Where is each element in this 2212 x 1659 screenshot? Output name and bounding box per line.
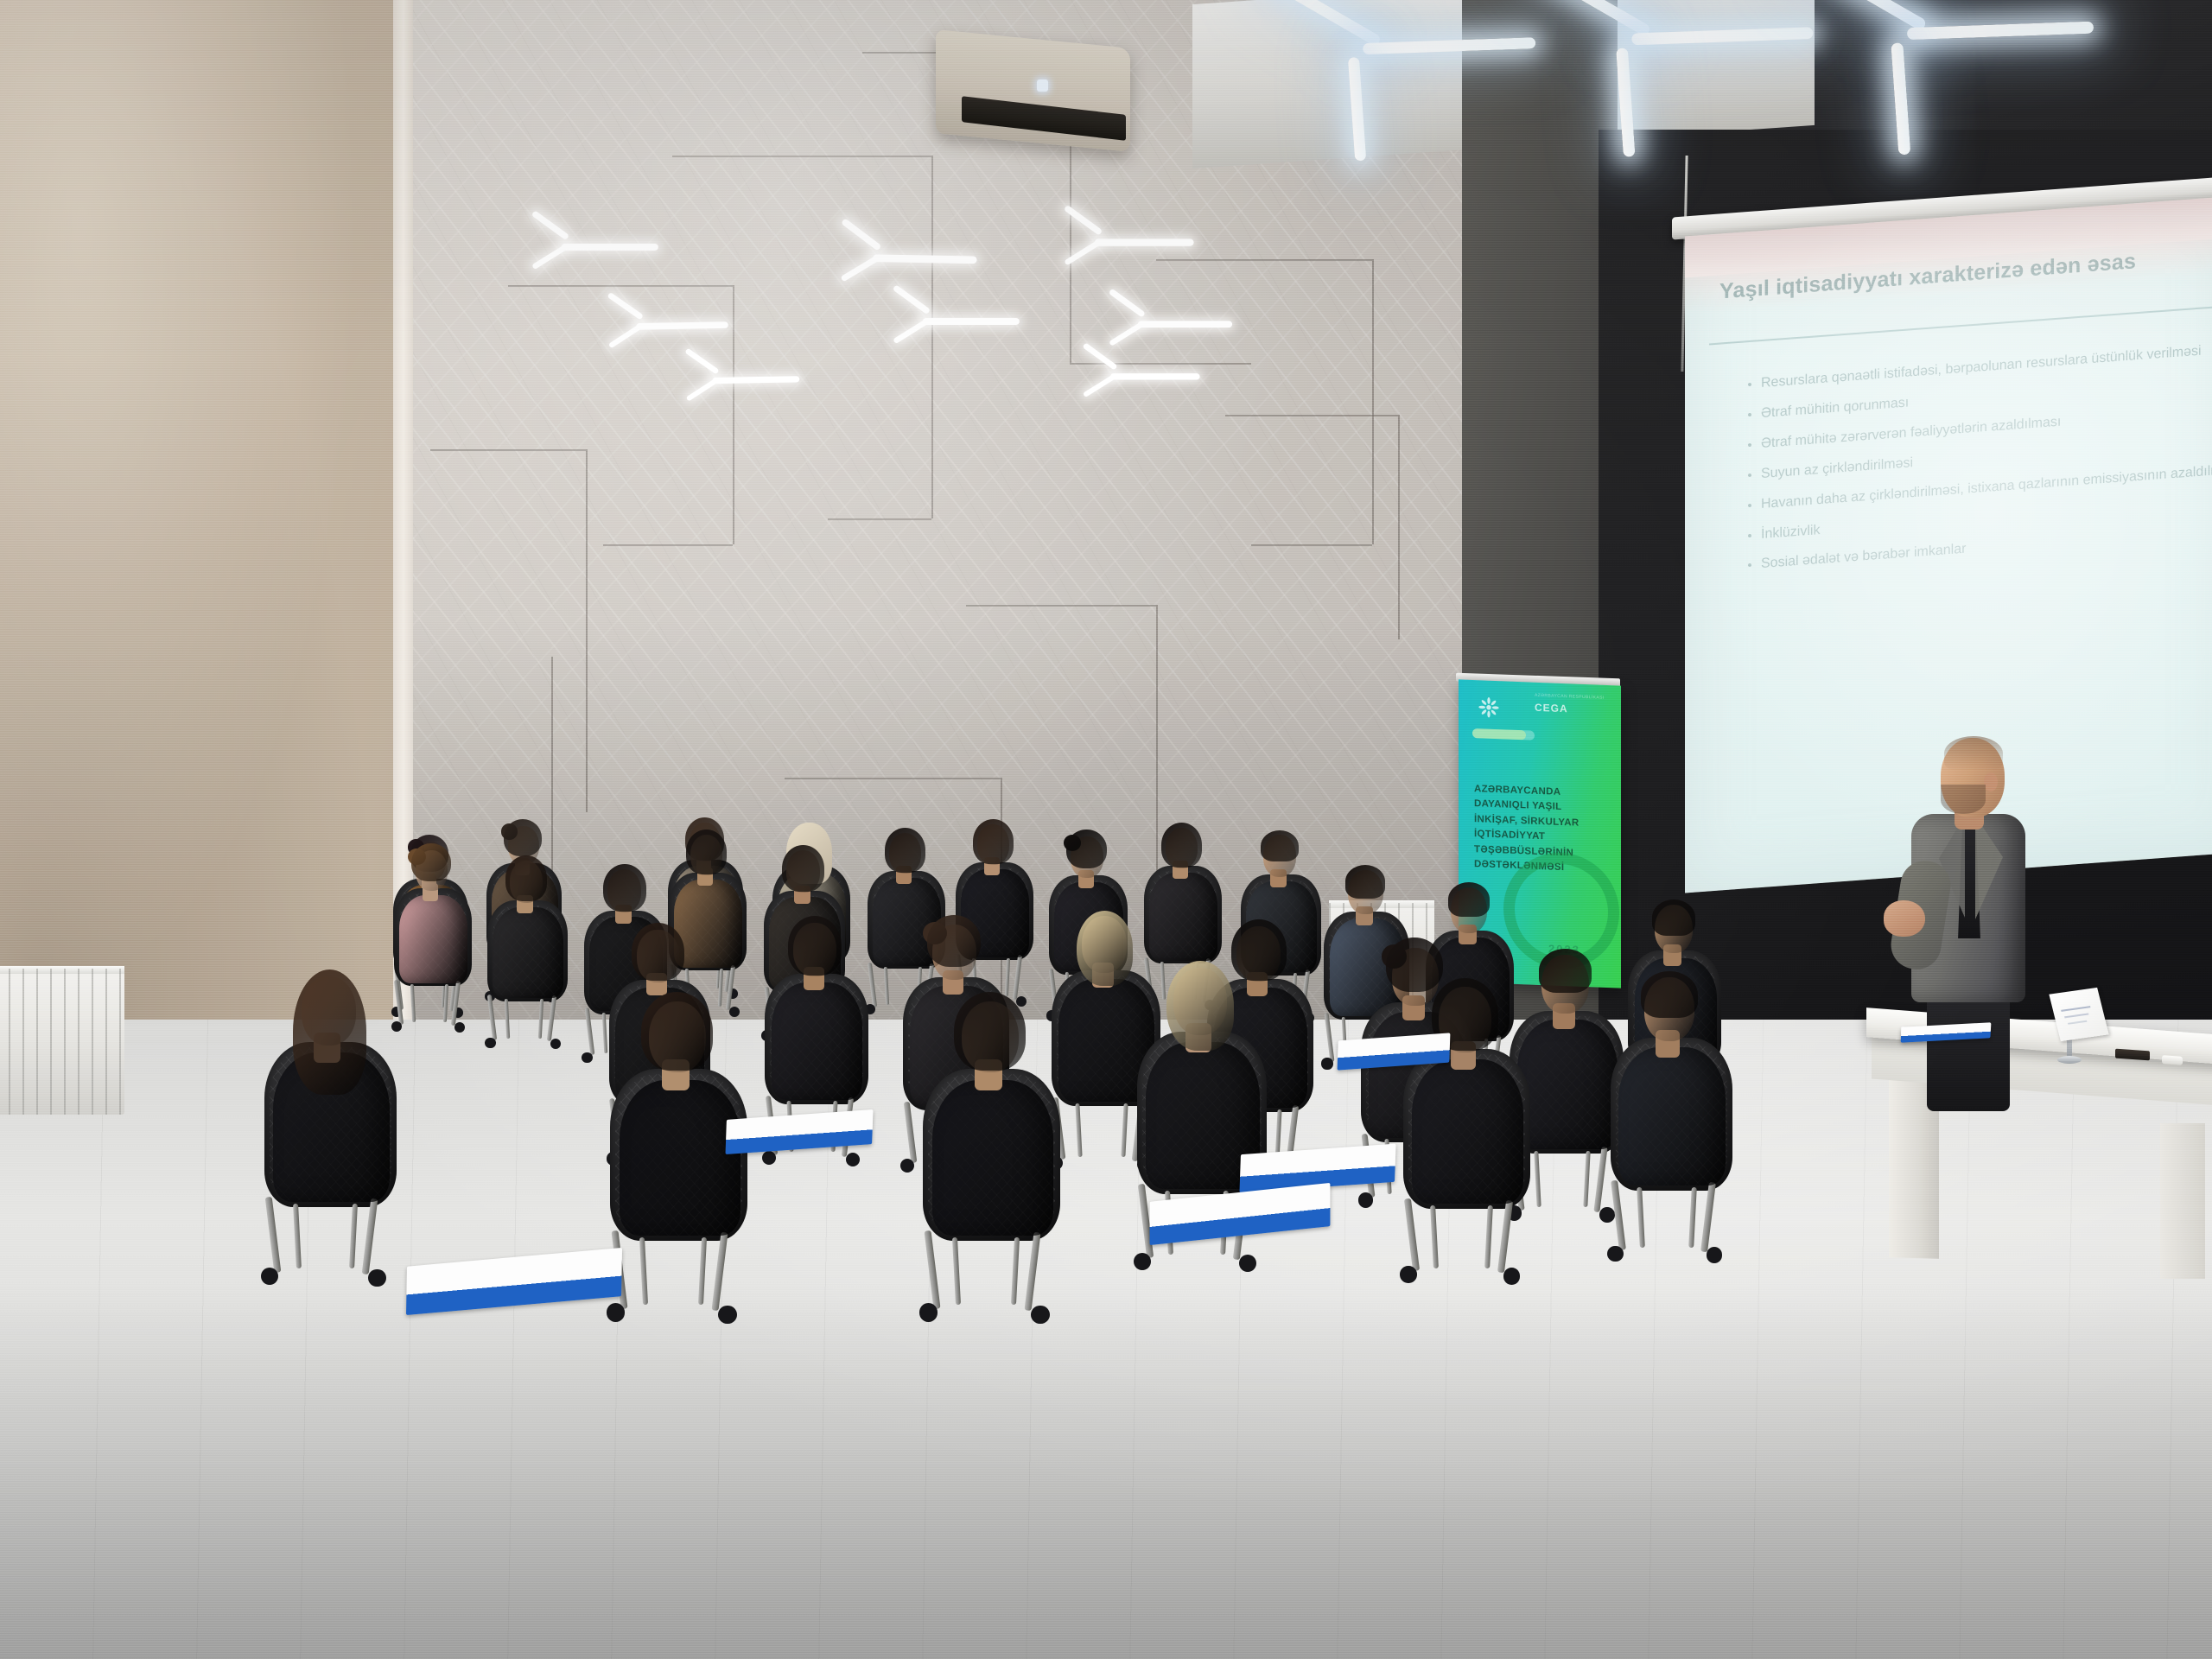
chair-leg (349, 1204, 358, 1269)
audience-hair (788, 916, 842, 976)
chair-leg (1025, 1232, 1042, 1312)
table-white-object[interactable] (2162, 1055, 2183, 1065)
presenter-ear (1984, 772, 1998, 791)
audience-hair (641, 992, 713, 1071)
audience-member (484, 855, 591, 1048)
presenter-hand (1884, 900, 1925, 937)
presenter-legs (1927, 990, 2010, 1111)
audience-hair (603, 864, 646, 912)
audience-hair (1641, 971, 1698, 1019)
audience-hair (1077, 911, 1134, 986)
radiator-left (0, 966, 124, 1115)
audience-hair (686, 829, 727, 874)
chair-leg (546, 995, 556, 1042)
chair-leg (1404, 1198, 1420, 1272)
slide-bullet-list: Resurslara qənaətli istifadəsi, bərpaolu… (1726, 336, 2212, 587)
chair-leg (487, 995, 497, 1041)
chair-caster (607, 1303, 625, 1321)
air-conditioner-led-icon (1037, 79, 1048, 92)
chair-leg (443, 984, 448, 1023)
chair-caster (550, 1039, 561, 1049)
audience-member (1605, 969, 1768, 1262)
chair-leg (904, 1102, 917, 1163)
chair-caster (1134, 1253, 1151, 1270)
presenter-hair (1944, 736, 2003, 771)
audience-hair (954, 992, 1026, 1071)
audience-hair (504, 819, 542, 856)
chair-caster (1239, 1255, 1256, 1272)
chair-leg (1688, 1187, 1696, 1248)
chair-caster (1031, 1306, 1049, 1324)
chair-caster (1503, 1268, 1521, 1285)
chair-leg (924, 1230, 941, 1309)
chair-caster (718, 1306, 736, 1324)
chair-leg (584, 1007, 594, 1055)
chair-caster (261, 1268, 278, 1285)
chair-leg (1430, 1205, 1439, 1268)
chair-caster (1400, 1266, 1417, 1283)
chair-leg (698, 1237, 707, 1306)
chair-leg (1122, 1103, 1128, 1157)
chair-caster (1707, 1247, 1723, 1263)
audience-hair (505, 855, 547, 901)
audience-hair (1345, 865, 1385, 898)
left-beige-wall (0, 0, 406, 1115)
chair-caster (1358, 1192, 1373, 1207)
audience-hair (1652, 899, 1695, 936)
chair-caster (485, 1038, 495, 1048)
audience-torso (1412, 1059, 1523, 1204)
chair-leg (293, 1204, 302, 1269)
audience-hair (1261, 830, 1298, 861)
chair-leg (1611, 1180, 1625, 1250)
audience-member (259, 968, 435, 1285)
audience-hair (1161, 823, 1202, 868)
chair-caster (582, 1052, 593, 1064)
audience-member (605, 992, 788, 1322)
audience-hair (293, 969, 367, 1095)
flower-star-icon (1478, 696, 1500, 719)
banner-wordmark: CEGA (1535, 702, 1568, 715)
audience-hair (885, 828, 925, 873)
audience-torso (1618, 1047, 1726, 1185)
audience-hair (1448, 882, 1490, 916)
presenter (1891, 731, 2063, 1111)
audience-hair (411, 843, 451, 881)
audience-hair (1166, 961, 1234, 1051)
chair-caster (454, 1022, 465, 1033)
audience-member (1398, 978, 1567, 1283)
audience-torso (620, 1080, 741, 1236)
chair-leg (1637, 1187, 1644, 1248)
banner-logo-subtitle: AZƏRBAYCAN RESPUBLİKASI (1535, 693, 1614, 702)
table-leg-right (2160, 1123, 2205, 1279)
chair-caster (919, 1303, 938, 1321)
chair-leg (712, 1232, 729, 1312)
chair-caster (900, 1159, 914, 1173)
audience-torso (932, 1080, 1053, 1236)
audience-hair (782, 845, 824, 892)
chair-caster (846, 1153, 860, 1166)
presenter-beard (1941, 785, 1986, 814)
chair-leg (505, 999, 510, 1039)
chair-leg (1484, 1205, 1493, 1268)
audience-hair (927, 915, 981, 968)
chair-leg (1700, 1182, 1715, 1252)
photo-scene: Yaşıl iqtisadiyyatı xarakterizə edən əsa… (0, 0, 2212, 1659)
chair-leg (538, 999, 543, 1039)
chair-leg (362, 1198, 378, 1274)
chair-leg (265, 1197, 282, 1273)
audience-member (918, 992, 1101, 1322)
audience-hair (973, 819, 1014, 864)
chair-caster (1607, 1246, 1624, 1262)
audience-hair (1066, 829, 1106, 868)
audience-torso (493, 907, 563, 998)
chair-leg (1497, 1200, 1512, 1274)
slide-divider (1709, 305, 2212, 345)
chair-leg (1583, 1151, 1591, 1207)
chair-leg (1011, 1237, 1020, 1306)
audience-hair (632, 923, 684, 981)
chair-leg (639, 1237, 648, 1306)
banner-pill-accent (1472, 728, 1526, 740)
chair-caster (368, 1269, 385, 1287)
chair-leg (451, 981, 461, 1026)
chair-leg (952, 1237, 961, 1306)
